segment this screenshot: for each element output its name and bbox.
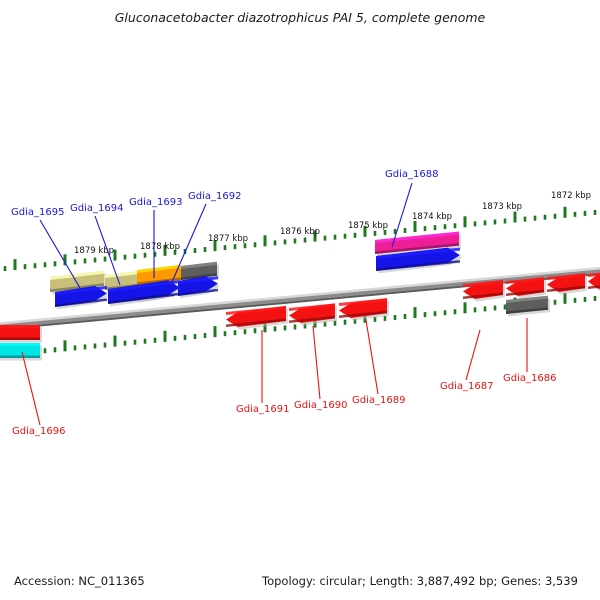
feature-shade	[0, 356, 40, 359]
scale-tick	[54, 261, 57, 266]
scale-tick	[524, 217, 527, 222]
scale-tick	[334, 235, 337, 240]
scale-tick	[234, 330, 237, 335]
scale-tick	[424, 312, 427, 317]
scale-tick	[534, 216, 537, 221]
scale-tick	[174, 336, 177, 341]
scale-tick	[44, 348, 47, 353]
scale-tick	[284, 325, 287, 330]
scale-tick	[544, 215, 547, 220]
scale-position-label: 1874 kbp	[412, 212, 452, 222]
scale-tick	[274, 240, 277, 245]
scale-tick	[54, 347, 57, 352]
scale-position-label: 1878 kbp	[140, 242, 180, 252]
gene-label[interactable]: Gdia_1688	[385, 169, 438, 180]
scale-tick	[84, 344, 87, 349]
scale-tick	[264, 235, 267, 246]
gene-label[interactable]: Gdia_1692	[188, 191, 241, 202]
scale-position-label: 1873 kbp	[482, 202, 522, 212]
genome-viewer: Gluconacetobacter diazotrophicus PAI 5, …	[0, 0, 600, 600]
gene-feature[interactable]	[226, 306, 288, 330]
scale-tick	[104, 257, 107, 262]
gene-label[interactable]: Gdia_1694	[70, 203, 123, 214]
scale-tick	[594, 210, 597, 215]
scale-tick	[214, 326, 217, 337]
gene-feature[interactable]	[289, 303, 337, 325]
scale-tick	[234, 244, 237, 249]
scale-tick	[184, 335, 187, 340]
scale-tick	[154, 338, 157, 343]
gene-label[interactable]: Gdia_1696	[12, 426, 65, 437]
scale-tick	[294, 324, 297, 329]
scale-tick	[474, 307, 477, 312]
scale-tick	[474, 221, 477, 226]
scale-tick	[354, 233, 357, 238]
scale-tick	[394, 315, 397, 320]
scale-tick	[464, 216, 467, 227]
gene-label[interactable]: Gdia_1689	[352, 395, 405, 406]
scale-tick	[164, 331, 167, 342]
scale-tick	[274, 326, 277, 331]
scale-tick	[434, 225, 437, 230]
scale-tick	[74, 345, 77, 350]
scale-tick	[344, 234, 347, 239]
scale-tick	[574, 298, 577, 303]
page-title: Gluconacetobacter diazotrophicus PAI 5, …	[115, 10, 486, 25]
scale-tick	[144, 253, 147, 258]
scale-tick	[374, 231, 377, 236]
scale-tick	[504, 305, 507, 310]
scale-tick	[334, 321, 337, 326]
scale-tick	[254, 328, 257, 333]
scale-position-label: 1872 kbp	[551, 191, 591, 201]
gene-label[interactable]: Gdia_1693	[129, 197, 182, 208]
scale-tick	[434, 311, 437, 316]
scale-tick	[224, 331, 227, 336]
gene-label[interactable]: Gdia_1690	[294, 400, 347, 411]
scale-tick	[94, 257, 97, 262]
scale-tick	[554, 214, 557, 219]
scale-tick	[414, 307, 417, 318]
scale-tick	[284, 239, 287, 244]
scale-tick	[564, 207, 567, 218]
scale-tick	[194, 334, 197, 339]
gene-leader-line	[366, 320, 378, 394]
scale-tick	[404, 228, 407, 233]
scale-tick	[144, 339, 147, 344]
gene-leader-line	[313, 326, 320, 399]
scale-tick	[484, 306, 487, 311]
gene-leader-line	[22, 352, 40, 425]
scale-tick	[584, 297, 587, 302]
genome-map-canvas[interactable]: Gluconacetobacter diazotrophicus PAI 5, …	[0, 0, 600, 600]
gene-leader-line	[466, 330, 480, 380]
gene-feature[interactable]	[0, 325, 42, 343]
gene-feature[interactable]	[339, 298, 389, 320]
scale-tick	[134, 340, 137, 345]
scale-tick	[124, 255, 127, 260]
scale-tick	[114, 336, 117, 347]
genome-summary-text: Topology: circular; Length: 3,887,492 bp…	[261, 574, 578, 588]
scale-tick	[424, 226, 427, 231]
feature-highlight	[0, 325, 40, 328]
scale-tick	[404, 314, 407, 319]
gene-label[interactable]: Gdia_1691	[236, 404, 289, 415]
scale-tick	[4, 266, 7, 271]
accession-text: Accession: NC_011365	[14, 574, 145, 588]
scale-tick	[84, 258, 87, 263]
scale-tick	[344, 320, 347, 325]
scale-tick	[574, 212, 577, 217]
gene-feature[interactable]	[588, 271, 600, 292]
scale-tick	[204, 333, 207, 338]
scale-tick	[444, 310, 447, 315]
scale-position-label: 1877 kbp	[208, 234, 248, 244]
scale-tick	[244, 329, 247, 334]
scale-tick	[504, 219, 507, 224]
gene-feature[interactable]	[506, 296, 550, 317]
scale-tick	[104, 343, 107, 348]
scale-position-label: 1876 kbp	[280, 227, 320, 237]
scale-tick	[494, 305, 497, 310]
scale-tick	[454, 223, 457, 228]
scale-tick	[194, 248, 197, 253]
scale-tick	[94, 343, 97, 348]
scale-tick	[444, 224, 447, 229]
scale-tick	[74, 259, 77, 264]
scale-tick	[324, 236, 327, 241]
scale-tick	[124, 341, 127, 346]
gene-label[interactable]: Gdia_1695	[11, 207, 64, 218]
scale-tick	[44, 262, 47, 267]
scale-tick	[494, 219, 497, 224]
scale-tick	[294, 238, 297, 243]
scale-tick	[594, 296, 597, 301]
gene-label[interactable]: Gdia_1686	[503, 373, 556, 384]
scale-tick	[254, 242, 257, 247]
gene-feature[interactable]	[0, 343, 42, 361]
scale-tick	[34, 263, 37, 268]
scale-position-label: 1875 kbp	[348, 221, 388, 231]
scale-tick	[554, 300, 557, 305]
feature-shade	[0, 338, 40, 341]
scale-tick	[304, 238, 307, 243]
scale-tick	[584, 211, 587, 216]
scale-tick	[224, 245, 227, 250]
scale-tick	[454, 309, 457, 314]
scale-tick	[14, 259, 17, 270]
scale-tick	[24, 264, 27, 269]
scale-tick	[384, 316, 387, 321]
scale-tick	[514, 212, 517, 223]
scale-tick	[204, 247, 207, 252]
scale-tick	[134, 254, 137, 259]
scale-tick	[484, 220, 487, 225]
gene-label[interactable]: Gdia_1687	[440, 381, 493, 392]
feature-highlight	[0, 343, 40, 346]
scale-tick	[414, 221, 417, 232]
scale-tick	[64, 340, 67, 351]
scale-tick	[464, 302, 467, 313]
scale-tick	[564, 293, 567, 304]
